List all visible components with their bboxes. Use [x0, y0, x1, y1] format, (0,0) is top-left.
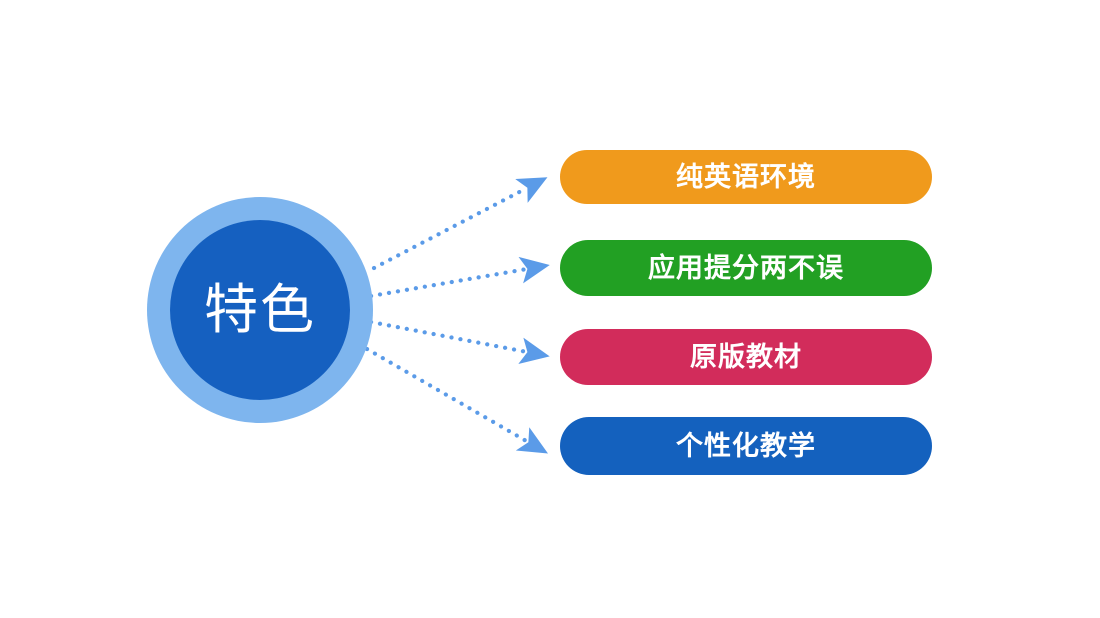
center-hub-inner: 特色: [170, 220, 350, 400]
connector-arrow-3: [371, 322, 527, 352]
feature-pill-2[interactable]: 应用提分两不误: [560, 240, 932, 296]
slide-canvas: 特色 纯英语环境 应用提分两不误 原版教材 个性化教学: [0, 0, 1100, 618]
center-hub-label: 特色: [204, 283, 316, 337]
feature-pill-2-label: 应用提分两不误: [648, 255, 844, 282]
feature-pill-3-label: 原版教材: [690, 344, 802, 371]
feature-pill-1-label: 纯英语环境: [676, 164, 816, 191]
feature-pill-4[interactable]: 个性化教学: [560, 417, 932, 475]
connector-arrow-2: [371, 269, 527, 296]
connector-arrow-4: [367, 349, 528, 442]
feature-pill-3[interactable]: 原版教材: [560, 329, 932, 385]
center-hub[interactable]: 特色: [147, 197, 373, 423]
connector-arrow-1: [374, 188, 527, 268]
feature-pill-1[interactable]: 纯英语环境: [560, 150, 932, 204]
feature-pill-4-label: 个性化教学: [676, 433, 816, 460]
